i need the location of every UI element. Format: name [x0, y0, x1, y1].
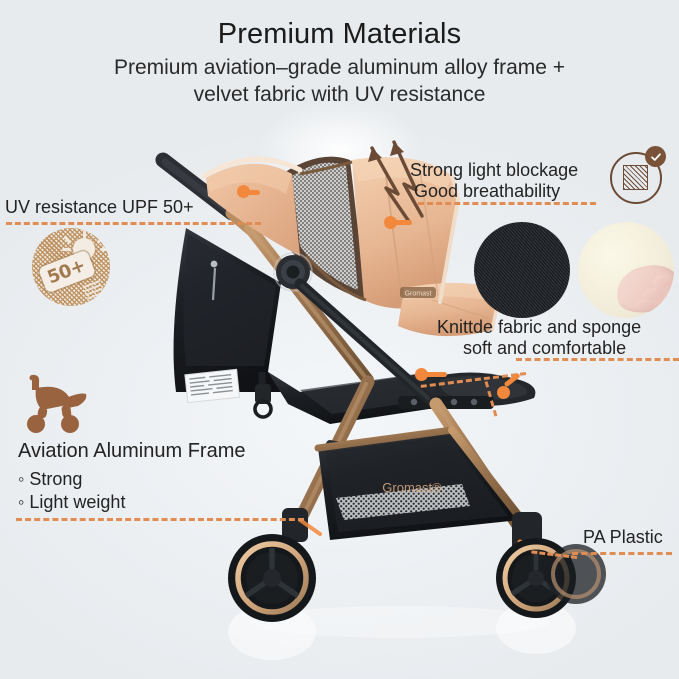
header-block: Premium Materials Premium aviation–grade…	[0, 18, 679, 108]
sponge-swatch-image	[578, 222, 674, 318]
svg-text:Gromast: Gromast	[405, 291, 432, 298]
pa-plastic-label: PA Plastic	[583, 527, 663, 548]
knit-fabric-swatch-image	[474, 222, 570, 318]
uv-connector-line	[6, 222, 261, 225]
pa-plastic-connector-line	[572, 552, 672, 555]
canopy-pin-tail-right	[394, 220, 412, 225]
fabric-caption-line-2: soft and comfortable	[463, 338, 626, 359]
sun-ray	[100, 248, 109, 251]
infographic-canvas: Gromast Gromast®	[0, 0, 679, 679]
frame-connector-line	[16, 518, 304, 521]
seat-cushion-pin-tail	[425, 372, 447, 377]
fabric-connector-line	[516, 358, 679, 361]
page-title: Premium Materials	[0, 18, 679, 50]
uv-resistance-label: UV resistance UPF 50+	[5, 197, 194, 218]
check-badge-icon	[645, 146, 666, 167]
sun-ray	[62, 248, 71, 251]
light-blockage-line-1: Strong light blockage	[410, 160, 578, 181]
sun-ray	[83, 230, 86, 239]
frame-title: Aviation Aluminum Frame	[18, 440, 246, 463]
upf-sun-badge-icon: 50+	[32, 228, 110, 306]
fabric-swatch-check-icon	[610, 146, 670, 206]
product-brand-text: Gromast®	[382, 480, 442, 495]
canopy-pin-tail-left	[244, 190, 260, 195]
subtitle-line-1: Premium aviation–grade aluminum alloy fr…	[0, 55, 679, 81]
subtitle-line-2: velvet fabric with UV resistance	[0, 82, 679, 108]
fabric-caption-line-1: Knittde fabric and sponge	[437, 317, 641, 338]
stroller-icon	[22, 374, 100, 436]
light-blockage-line-2: Good breathability	[414, 181, 560, 202]
frame-bullet-light-weight: ◦ Light weight	[18, 492, 125, 513]
frame-bullet-strong: ◦ Strong	[18, 469, 82, 490]
sun-ray	[63, 235, 71, 244]
page-subtitle: Premium aviation–grade aluminum alloy fr…	[0, 55, 679, 107]
fabric-swatch-glyph	[623, 165, 648, 190]
light-blockage-connector-line	[418, 202, 596, 205]
footrest-pin-marker	[497, 386, 510, 399]
